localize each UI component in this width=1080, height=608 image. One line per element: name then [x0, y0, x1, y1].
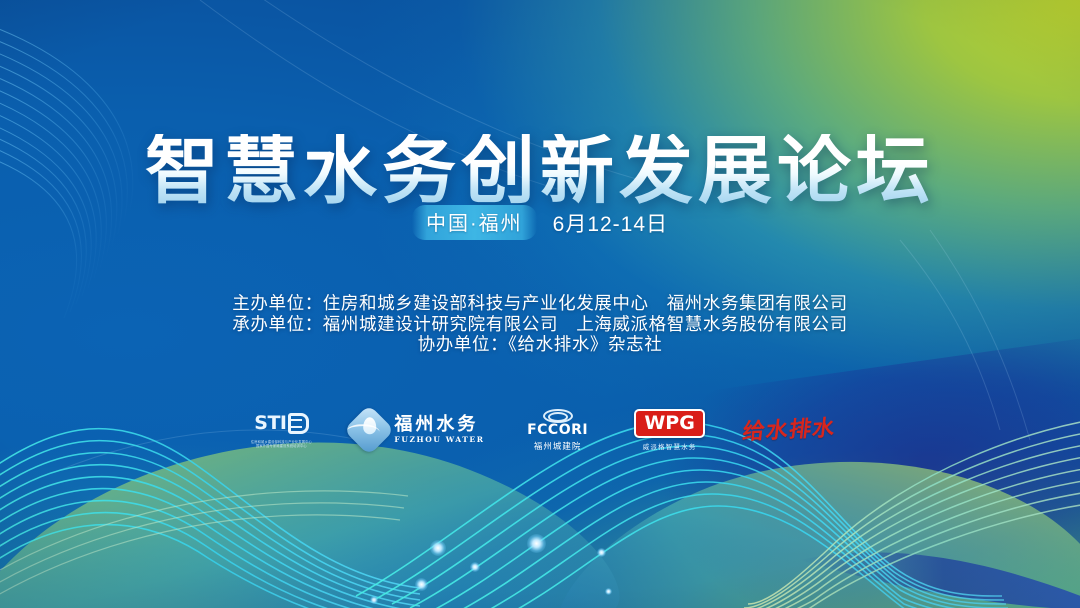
stid-subtitle-line2: 国家外国专家局建设系统培训中心 [251, 444, 312, 449]
jishui-paishui-name: 给水排水 [741, 416, 836, 444]
fccori-name-cn: 福州城建院 [534, 440, 582, 452]
wpg-name-cn: 威派格智慧水务 [643, 441, 697, 451]
logo-fuzhou-water: 福州水务 FUZHOU WATER [351, 402, 484, 458]
wpg-name-en: WPG [644, 413, 694, 433]
water-drop-icon [344, 405, 395, 456]
organizer-block: 主办单位：住房和城乡建设部科技与产业化发展中心 福州水务集团有限公司 承办单位：… [0, 293, 1080, 355]
fccori-arc-icon [538, 409, 578, 422]
logo-fccori: FCCORI 福州城建院 [519, 402, 597, 458]
stid-mark: STI [254, 412, 308, 436]
location-badge: 中国·福州 [412, 205, 537, 240]
logo-wpg: WPG 威派格智慧水务 [631, 402, 709, 458]
conference-poster: 智慧水务创新发展论坛 中国·福州 6月12-14日 主办单位：住房和城乡建设部科… [0, 0, 1080, 608]
poster-subtitle: 中国·福州 6月12-14日 [0, 205, 1080, 240]
sponsor-logo-strip: STI 住房和城乡建设部科技与产业化发展中心 国家外国专家局建设系统培训中心 福… [0, 400, 1080, 460]
fccori-name-en: FCCORI [527, 423, 588, 438]
stid-d-icon [288, 413, 309, 434]
fuzhou-water-name-cn: 福州水务 [394, 415, 478, 435]
fuzhou-water-text: 福州水务 FUZHOU WATER [394, 415, 484, 445]
organizer-line-host: 主办单位：住房和城乡建设部科技与产业化发展中心 福州水务集团有限公司 [0, 293, 1080, 314]
poster-title: 智慧水务创新发展论坛 [0, 134, 1080, 208]
poster-content: 智慧水务创新发展论坛 中国·福州 6月12-14日 主办单位：住房和城乡建设部科… [0, 0, 1080, 608]
event-date: 6月12-14日 [553, 208, 668, 238]
stid-letters: STI [254, 414, 286, 433]
logo-jishui-paishui: 给水排水 [743, 402, 835, 458]
wpg-badge: WPG [634, 409, 704, 438]
organizer-line-support: 协办单位：《给水排水》杂志社 [0, 334, 1080, 355]
stid-subtitle: 住房和城乡建设部科技与产业化发展中心 国家外国专家局建设系统培训中心 [251, 439, 312, 448]
fuzhou-water-name-en: FUZHOU WATER [394, 435, 484, 445]
organizer-line-organizer: 承办单位：福州城建设计研究院有限公司 上海威派格智慧水务股份有限公司 [0, 314, 1080, 335]
logo-stid: STI 住房和城乡建设部科技与产业化发展中心 国家外国专家局建设系统培训中心 [245, 402, 317, 458]
